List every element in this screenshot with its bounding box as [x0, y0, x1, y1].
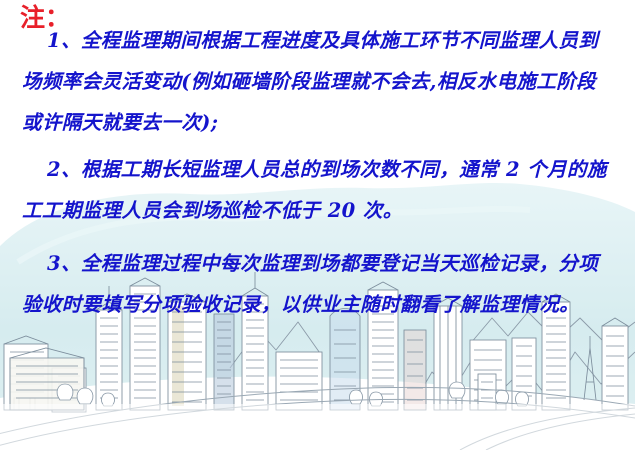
paragraph-3-line-1: 3、全程监理过程中每次监理到场都要登记当天巡检记录，分项	[47, 253, 598, 275]
paragraph-2-line-1: 2、根据工期长短监理人员总的到场次数不同，通常 2 个月的施	[47, 159, 607, 181]
paragraph-1-line-3: 或许隔天就要去一次);	[22, 112, 218, 134]
paragraph-1-line-1: 1、全程监理期间根据工程进度及具体施工环节不同监理人员到	[47, 30, 598, 52]
note-label: 注：	[20, 4, 70, 32]
slide-text-layer: 注： 1、全程监理期间根据工程进度及具体施工环节不同监理人员到 场频率会灵活变动…	[0, 0, 635, 450]
paragraph-3-line-2: 验收时要填写分项验收记录，以供业主随时翻看了解监理情况。	[22, 294, 579, 316]
slide-canvas: 注： 1、全程监理期间根据工程进度及具体施工环节不同监理人员到 场频率会灵活变动…	[0, 0, 635, 450]
paragraph-1-line-2: 场频率会灵活变动(例如砸墙阶段监理就不会去,相反水电施工阶段	[22, 71, 596, 93]
paragraph-2-line-2: 工工期监理人员会到场巡检不低于 20 次。	[22, 200, 403, 222]
